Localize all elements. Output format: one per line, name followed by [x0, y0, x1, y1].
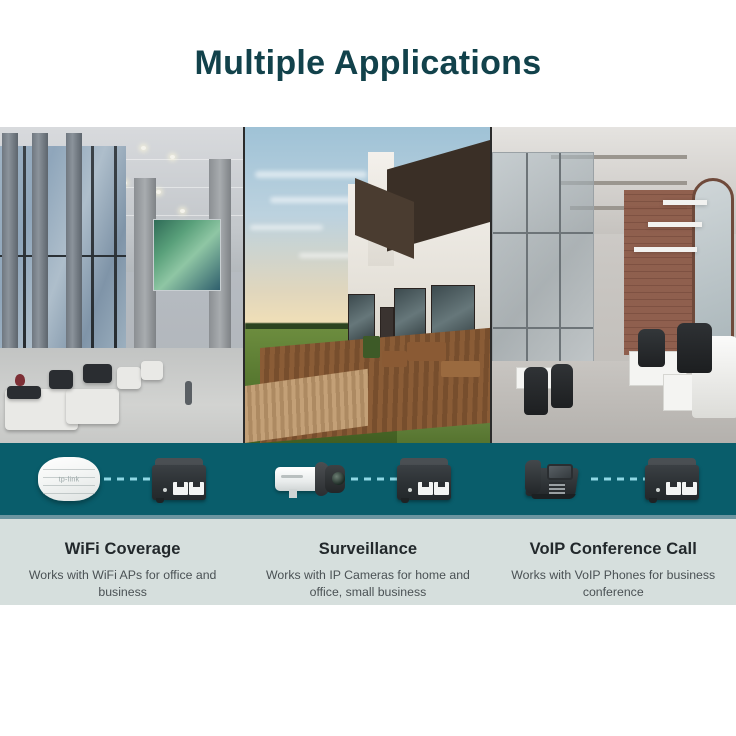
connection-line: [351, 478, 397, 481]
diagram-surveillance: [245, 443, 490, 515]
side-table: [49, 370, 73, 389]
caption-voip-conference-call: VoIP Conference Call Works with VoIP Pho…: [491, 528, 736, 608]
caption-title: WiFi Coverage: [14, 540, 231, 559]
house-scene: [245, 127, 490, 443]
ap-brand-logo: tp-link: [59, 476, 80, 483]
connection-line: [591, 478, 645, 481]
office-chair: [638, 329, 665, 367]
wifi-access-point-icon: tp-link: [38, 457, 100, 501]
photo-strip: [0, 127, 736, 443]
lobby-scene: [0, 127, 243, 443]
caption-title: VoIP Conference Call: [505, 540, 722, 559]
multiple-applications-infographic: Multiple Applications: [0, 0, 736, 736]
ceiling-light: [141, 146, 146, 150]
person: [185, 381, 192, 405]
band-rule: [0, 515, 736, 519]
hotel-lobby-photo: [0, 127, 243, 443]
connection-line: [104, 478, 152, 481]
voip-phone-icon: [523, 456, 585, 502]
caption-wifi-coverage: WiFi Coverage Works with WiFi APs for of…: [0, 528, 245, 608]
ceiling-light: [180, 209, 185, 213]
ceiling-light: [156, 190, 161, 194]
side-table: [83, 364, 112, 383]
loft-office-photo: [492, 127, 736, 443]
plant: [15, 374, 25, 386]
office-chair: [677, 323, 711, 374]
caption-description: Works with IP Cameras for home and offic…: [259, 567, 476, 601]
patio-table: [407, 342, 446, 361]
office-chair: [524, 367, 548, 414]
wall-artwork: [153, 219, 221, 292]
device-diagram-band: tp-link: [0, 443, 736, 515]
caption-description: Works with VoIP Phones for business conf…: [505, 567, 722, 601]
poe-injector-icon: [397, 458, 451, 500]
office-chair: [551, 364, 573, 408]
caption-row: WiFi Coverage Works with WiFi APs for of…: [0, 528, 736, 608]
poe-injector-icon: [645, 458, 699, 500]
caption-description: Works with WiFi APs for office and busin…: [14, 567, 231, 601]
coffee-table: [7, 386, 41, 399]
caption-title: Surveillance: [259, 540, 476, 559]
caption-surveillance: Surveillance Works with IP Cameras for h…: [245, 528, 490, 608]
diagram-wifi-coverage: tp-link: [0, 443, 245, 515]
diagram-voip-conference-call: [491, 443, 736, 515]
poe-injector-icon: [152, 458, 206, 500]
page-title-area: Multiple Applications: [0, 0, 736, 127]
patio-chair: [382, 351, 407, 367]
lounge-chair: [141, 361, 163, 380]
lounger: [441, 361, 480, 377]
armchair: [66, 389, 119, 424]
page-title: Multiple Applications: [195, 44, 542, 83]
house-exterior-photo: [245, 127, 490, 443]
lounge-chair: [117, 367, 141, 389]
ip-camera-icon: [275, 459, 347, 499]
planter: [363, 336, 380, 358]
office-scene: [492, 127, 736, 443]
